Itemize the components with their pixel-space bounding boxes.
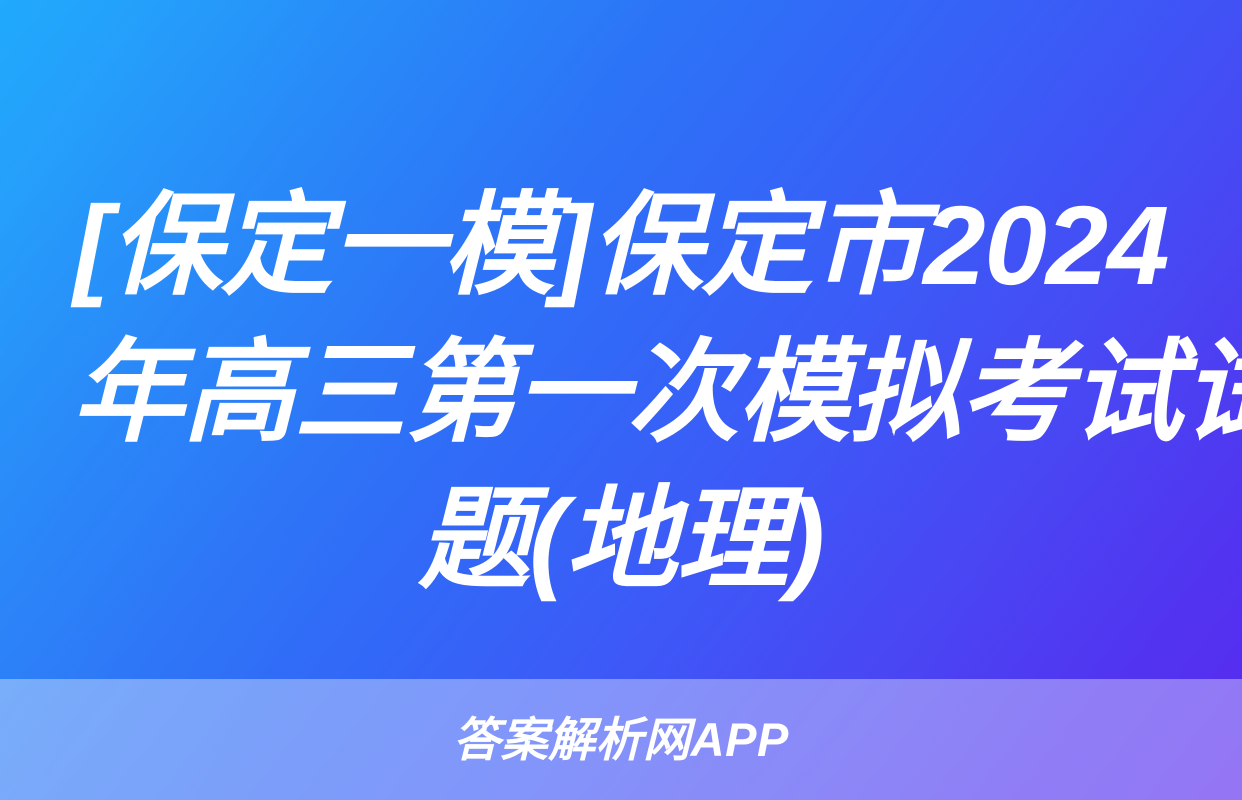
title-line-2: 年高三第一次模拟考试试 [72,319,1170,466]
title-line-3: 题(地理) [72,466,1170,613]
app-watermark-band: 答案解析网APP [0,679,1242,800]
title-line-1: [保定一模]保定市2024 [72,172,1170,319]
app-watermark-label: 答案解析网APP [453,716,789,763]
page-title: [保定一模]保定市2024 年高三第一次模拟考试试 题(地理) [0,172,1242,613]
cover-card: [保定一模]保定市2024 年高三第一次模拟考试试 题(地理) 答案解析网APP [0,0,1242,800]
